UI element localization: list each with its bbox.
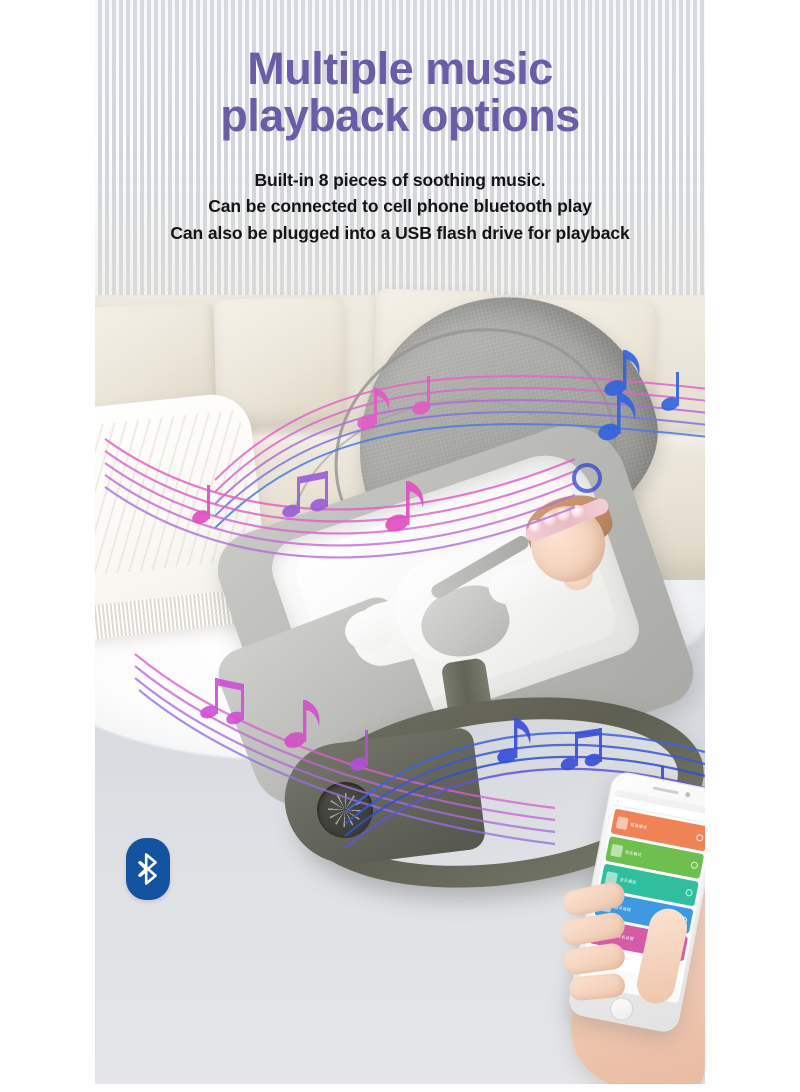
subheadline: Built-in 8 pieces of soothing music. Can… xyxy=(95,167,705,247)
poster-content-panel: ‹ 摇篮模式 安抚模式 xyxy=(95,0,705,1084)
subheadline-line-1: Built-in 8 pieces of soothing music. xyxy=(95,167,705,194)
chevron-icon[interactable] xyxy=(696,834,704,842)
subheadline-line-2: Can be connected to cell phone bluetooth… xyxy=(95,193,705,220)
headband-flower xyxy=(571,505,584,518)
home-button[interactable] xyxy=(608,996,635,1023)
app-list-item-label: 摇篮模式 xyxy=(630,821,648,830)
bluetooth-icon xyxy=(137,852,159,886)
chevron-icon[interactable] xyxy=(685,889,693,897)
chevron-icon[interactable] xyxy=(690,861,698,869)
headband-flower xyxy=(557,508,570,521)
headline-line-1: Multiple music xyxy=(95,46,705,93)
headline-block: Multiple music playback options Built-in… xyxy=(95,46,705,246)
subheadline-line-3: Can also be plugged into a USB flash dri… xyxy=(95,220,705,247)
app-list-item-label: 音乐播放 xyxy=(619,876,637,885)
baby-icon xyxy=(616,816,629,830)
control-panel-dial-icon xyxy=(328,793,362,827)
leaf-icon xyxy=(610,843,623,857)
headline: Multiple music playback options xyxy=(95,46,705,140)
bluetooth-badge xyxy=(126,838,170,900)
phone-earpiece xyxy=(653,786,679,794)
product-marketing-poster: ‹ 摇篮模式 安抚模式 xyxy=(0,0,800,1092)
headband-flower xyxy=(543,513,556,526)
app-list-item-label: 安抚模式 xyxy=(625,849,643,858)
hand-holding-phone: ‹ 摇篮模式 安抚模式 xyxy=(493,760,705,1084)
headline-line-2: playback options xyxy=(95,93,705,140)
phone-front-camera-icon xyxy=(685,792,691,798)
back-chevron-icon[interactable]: ‹ xyxy=(616,799,618,803)
